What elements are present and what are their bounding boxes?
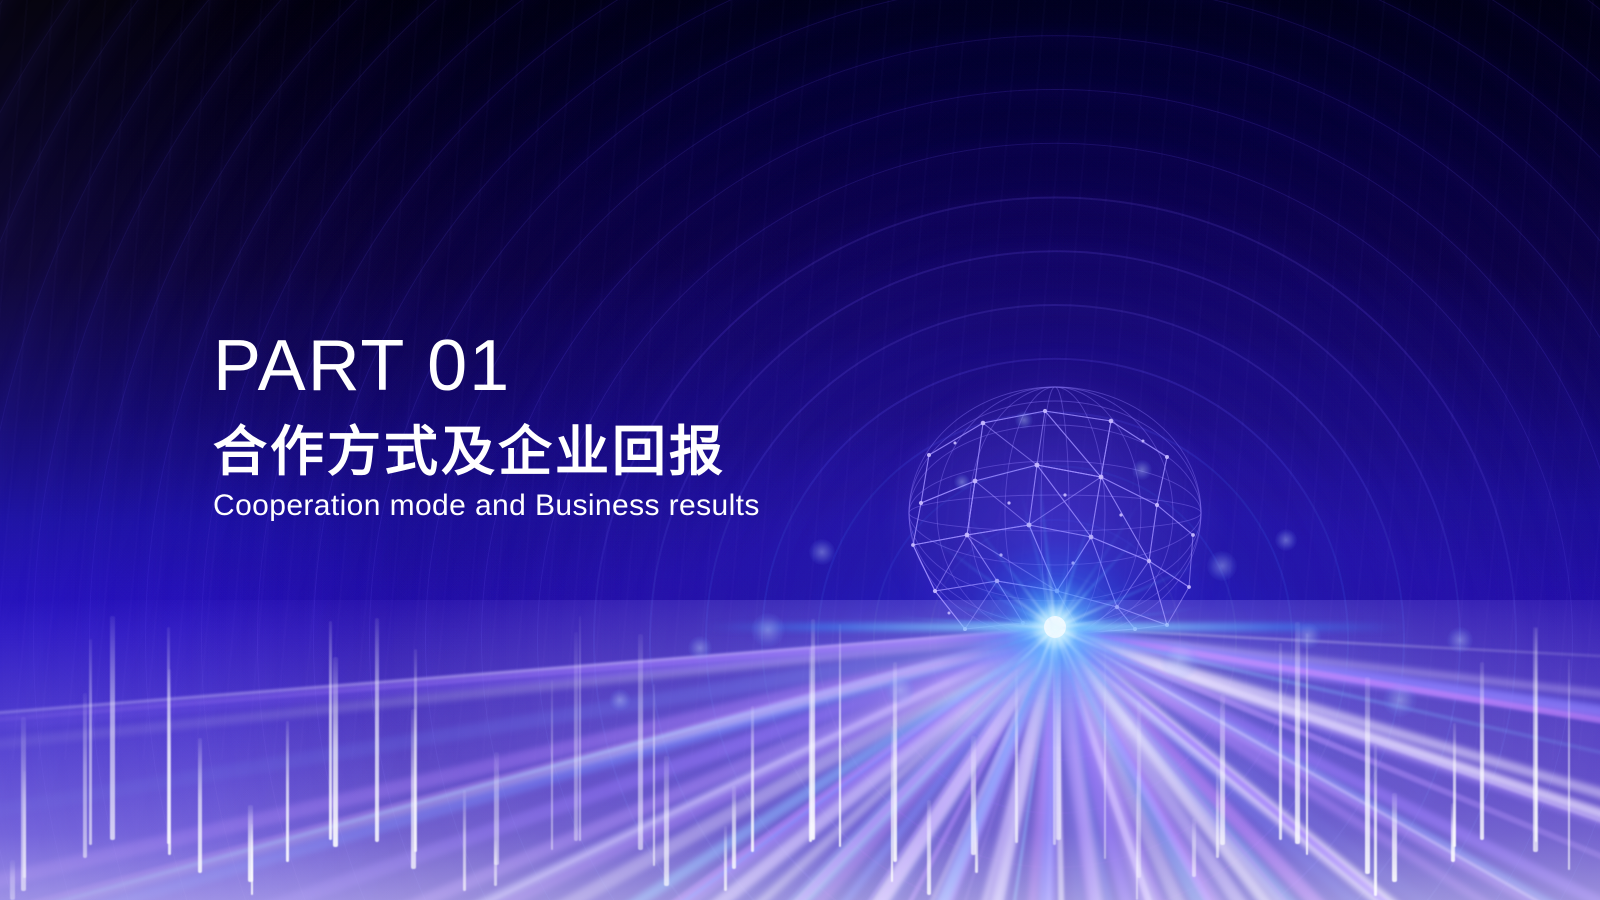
light-ray-88 [0, 628, 1058, 900]
light-ray-27 [1052, 629, 1600, 900]
light-ray-1 [1055, 627, 1600, 819]
burst-spike-3 [1054, 627, 1125, 687]
light-post-28 [809, 648, 812, 842]
light-rays [0, 560, 1600, 900]
light-ray-59 [693, 633, 1062, 900]
burst-spike-28 [1055, 561, 1205, 629]
light-post-55 [1533, 627, 1538, 852]
bokeh-dot-9 [1132, 460, 1152, 480]
light-post-26 [732, 786, 737, 869]
light-ray-84 [29, 627, 1056, 900]
burst-spike-15 [885, 615, 1055, 629]
light-post-6 [168, 669, 171, 855]
light-ray-22 [1053, 628, 1600, 900]
light-post-0 [10, 860, 15, 900]
bokeh-dot-13 [1447, 627, 1473, 653]
light-ray-99 [0, 627, 1056, 859]
light-post-27 [751, 706, 754, 852]
burst-spike-25 [1054, 487, 1151, 629]
light-post-43 [1216, 769, 1219, 858]
light-post-21 [579, 616, 582, 841]
light-ray-64 [497, 631, 1061, 900]
light-ray-52 [1000, 632, 1060, 900]
ring-7 [593, 196, 1517, 900]
light-post-47 [1306, 633, 1309, 855]
light-post-34 [975, 820, 978, 873]
light-ray-48 [1048, 633, 1219, 900]
light-ray-51 [1026, 629, 1057, 900]
light-ray-69 [419, 630, 1059, 900]
light-post-36 [1015, 669, 1018, 843]
light-ray-50 [1052, 630, 1097, 900]
light-post-15 [411, 709, 416, 869]
light-post-51 [1451, 803, 1456, 862]
ground-light-wash [0, 600, 1600, 900]
burst-spike-17 [976, 585, 1056, 629]
light-post-50 [1392, 793, 1397, 882]
light-ray-45 [1054, 628, 1225, 900]
light-ray-80 [0, 628, 1058, 900]
light-ray-101 [0, 627, 1055, 767]
light-ray-81 [69, 628, 1059, 900]
light-ray-61 [694, 630, 1059, 900]
burst-spike-21 [1018, 485, 1056, 628]
light-ray-94 [0, 627, 1057, 900]
light-ray-13 [1052, 628, 1600, 900]
burst-spike-20 [1026, 578, 1056, 628]
light-ray-97 [0, 627, 1056, 900]
burst-spike-5 [1054, 628, 1130, 782]
light-ray-87 [0, 628, 1058, 900]
burst-lens-streak [705, 623, 1405, 631]
burst-spike-16 [934, 601, 1056, 629]
light-ray-31 [1049, 630, 1600, 900]
burst-spike-0 [1055, 627, 1110, 629]
burst-spike-10 [1026, 628, 1056, 677]
light-ray-92 [0, 628, 1058, 900]
light-ray-67 [471, 628, 1057, 900]
light-ray-70 [283, 630, 1061, 900]
burst-halo [935, 507, 1175, 747]
light-ray-82 [0, 628, 1059, 900]
light-ray-86 [0, 628, 1058, 900]
light-ray-16 [1053, 627, 1600, 900]
burst-spike-19 [962, 510, 1055, 629]
light-ray-8 [1053, 627, 1600, 900]
light-post-35 [971, 736, 976, 855]
light-post-45 [1279, 643, 1282, 840]
light-post-16 [463, 790, 466, 891]
light-ray-18 [1053, 628, 1600, 900]
light-ray-43 [1049, 632, 1446, 900]
light-ray-11 [1054, 627, 1600, 900]
light-ray-76 [102, 629, 1060, 900]
title-slide: PART 01 合作方式及企业回报 Cooperation mode and B… [0, 0, 1600, 900]
light-ray-71 [114, 630, 1060, 900]
light-ray-15 [1052, 628, 1600, 900]
burst-spike-12 [921, 627, 1056, 726]
light-post-38 [1053, 620, 1056, 845]
light-ray-72 [389, 629, 1059, 900]
light-ray-32 [1050, 630, 1600, 900]
light-ray-41 [1050, 631, 1600, 900]
light-posts [0, 600, 1600, 900]
section-label: PART 01 [213, 330, 913, 402]
light-ray-9 [1053, 627, 1600, 900]
light-ray-65 [393, 631, 1061, 900]
light-ray-90 [0, 627, 1055, 900]
light-ray-83 [0, 628, 1058, 900]
light-ray-93 [0, 627, 1057, 900]
light-post-24 [664, 756, 669, 886]
light-post-10 [286, 721, 289, 862]
light-ray-20 [1051, 629, 1600, 900]
bokeh-dot-3 [1275, 529, 1297, 551]
ring-1 [929, 519, 1181, 761]
burst-spike-14 [936, 627, 1055, 654]
light-post-32 [891, 726, 894, 882]
light-ray-102 [0, 627, 1055, 745]
light-post-41 [1136, 776, 1139, 900]
light-ray-30 [1050, 629, 1600, 900]
light-post-25 [724, 826, 727, 891]
burst-spike-6 [1054, 628, 1094, 746]
light-ray-98 [0, 627, 1057, 900]
light-ray-60 [801, 632, 1061, 900]
burst-spike-8 [1037, 628, 1056, 791]
light-post-17 [494, 840, 497, 886]
light-post-22 [638, 634, 643, 850]
light-ray-68 [251, 628, 1057, 900]
light-ray-24 [1051, 628, 1600, 900]
burst-core [1044, 616, 1066, 638]
light-ray-4 [1054, 627, 1600, 861]
light-ray-37 [1049, 631, 1600, 900]
light-ray-42 [1048, 632, 1401, 900]
light-post-33 [927, 800, 932, 895]
light-post-13 [375, 618, 380, 842]
burst-spike-13 [968, 627, 1055, 660]
light-post-4 [110, 616, 115, 840]
light-ray-21 [1052, 628, 1600, 900]
burst-spike-9 [998, 628, 1056, 767]
light-ray-74 [4, 628, 1058, 900]
light-ray-55 [933, 631, 1060, 900]
light-ray-85 [0, 628, 1057, 900]
light-post-20 [574, 632, 579, 841]
light-ray-28 [1054, 627, 1600, 900]
burst-spike-18 [922, 531, 1056, 629]
light-post-9 [248, 805, 253, 882]
light-post-1 [23, 771, 26, 878]
light-ray-73 [272, 627, 1056, 900]
light-ray-33 [1052, 629, 1573, 900]
light-post-14 [414, 649, 417, 852]
light-post-7 [198, 738, 203, 873]
light-ray-6 [1055, 627, 1600, 835]
burst-spike-23 [1054, 536, 1072, 628]
light-ray-17 [1054, 627, 1600, 900]
title-text-block: PART 01 合作方式及企业回报 Cooperation mode and B… [213, 330, 913, 523]
light-ray-40 [1052, 629, 1547, 900]
light-post-48 [1365, 677, 1370, 874]
light-post-39 [1104, 646, 1107, 859]
light-ray-58 [739, 632, 1061, 900]
light-post-49 [1374, 745, 1377, 896]
burst-spike-24 [1054, 513, 1093, 629]
light-post-53 [1480, 662, 1485, 840]
light-ray-54 [1008, 634, 1062, 900]
network-globe-icon [905, 385, 1205, 650]
light-ray-95 [0, 627, 1056, 900]
light-post-2 [83, 693, 88, 858]
light-post-30 [839, 624, 842, 847]
light-ray-103 [0, 627, 1056, 748]
light-post-8 [251, 824, 254, 895]
light-ray-66 [592, 630, 1060, 900]
light-ray-89 [0, 627, 1057, 900]
light-ray-14 [1052, 628, 1600, 900]
burst-spike-11 [949, 627, 1056, 731]
bokeh-dot-0 [751, 613, 785, 647]
light-post-12 [329, 621, 332, 840]
burst-spike-27 [1054, 581, 1130, 629]
ring-2 [873, 465, 1237, 814]
light-ray-12 [1054, 627, 1600, 900]
bokeh-dot-2 [1207, 551, 1237, 581]
light-ray-78 [198, 628, 1057, 900]
page-title: 合作方式及企业回报 [213, 424, 913, 481]
light-post-44 [1220, 694, 1225, 845]
light-ray-38 [1050, 630, 1600, 900]
light-ray-25 [1050, 629, 1600, 900]
light-ray-57 [822, 630, 1058, 900]
burst-spike-4 [1054, 627, 1137, 719]
light-post-5 [167, 627, 170, 844]
light-post-23 [653, 684, 656, 866]
bokeh-dot-8 [1015, 411, 1033, 429]
bokeh-dot-5 [885, 675, 915, 705]
globe-glow [880, 360, 1230, 680]
light-ray-75 [234, 629, 1059, 900]
bokeh-dot-7 [688, 636, 712, 660]
light-post-42 [1192, 818, 1197, 877]
light-ray-56 [804, 628, 1057, 900]
bokeh-dot-11 [1383, 683, 1417, 717]
light-ray-35 [1051, 629, 1600, 900]
light-ray-39 [1053, 628, 1409, 900]
light-ray-77 [0, 629, 1059, 900]
burst-spike-7 [1054, 628, 1059, 718]
light-post-52 [1453, 723, 1456, 847]
burst-spike-29 [1055, 606, 1204, 629]
light-post-40 [1137, 700, 1142, 878]
burst-spike-1 [1055, 627, 1198, 670]
burst-spike-2 [1055, 627, 1206, 696]
light-ray-26 [1050, 629, 1600, 900]
bokeh-dot-10 [954, 474, 970, 490]
light-post-18 [494, 752, 499, 865]
light-ray-62 [521, 628, 1056, 900]
ring-0 [985, 573, 1125, 707]
light-ray-23 [1053, 628, 1600, 900]
page-subtitle: Cooperation mode and Business results [213, 489, 913, 524]
bokeh-dot-1 [809, 539, 835, 565]
light-post-56 [1568, 659, 1571, 870]
light-ray-49 [1049, 632, 1193, 900]
light-ray-79 [100, 627, 1056, 900]
light-ray-63 [617, 630, 1059, 900]
burst-spike-26 [1054, 534, 1139, 628]
light-ray-96 [0, 627, 1055, 900]
light-post-29 [811, 619, 816, 840]
bokeh-dot-4 [1160, 640, 1200, 680]
light-ray-3 [1054, 627, 1600, 772]
burst-spike-22 [1037, 464, 1056, 628]
light-post-37 [1056, 629, 1061, 840]
light-ray-10 [1053, 627, 1600, 900]
light-post-31 [893, 662, 898, 862]
light-ray-2 [1054, 627, 1600, 874]
light-post-54 [1535, 628, 1538, 842]
light-ray-0 [1055, 627, 1600, 675]
light-ray-91 [0, 627, 1057, 900]
bokeh-dot-6 [1295, 623, 1321, 649]
light-post-19 [551, 680, 554, 850]
light-ray-29 [1052, 628, 1600, 900]
light-ray-7 [1054, 627, 1600, 900]
light-post-46 [1295, 622, 1300, 844]
light-ray-44 [1051, 630, 1386, 900]
bokeh-dot-12 [609, 689, 631, 711]
light-ray-36 [1049, 631, 1563, 900]
light-ray-19 [1051, 628, 1600, 900]
light-post-57 [21, 717, 26, 891]
light-ray-46 [1051, 630, 1279, 900]
light-ray-100 [0, 627, 1056, 772]
light-ray-5 [1055, 627, 1600, 897]
light-ray-34 [1054, 628, 1600, 900]
light-post-11 [333, 657, 338, 847]
light-ray-53 [1003, 634, 1062, 900]
light-post-3 [89, 639, 92, 845]
light-ray-47 [1049, 632, 1325, 900]
